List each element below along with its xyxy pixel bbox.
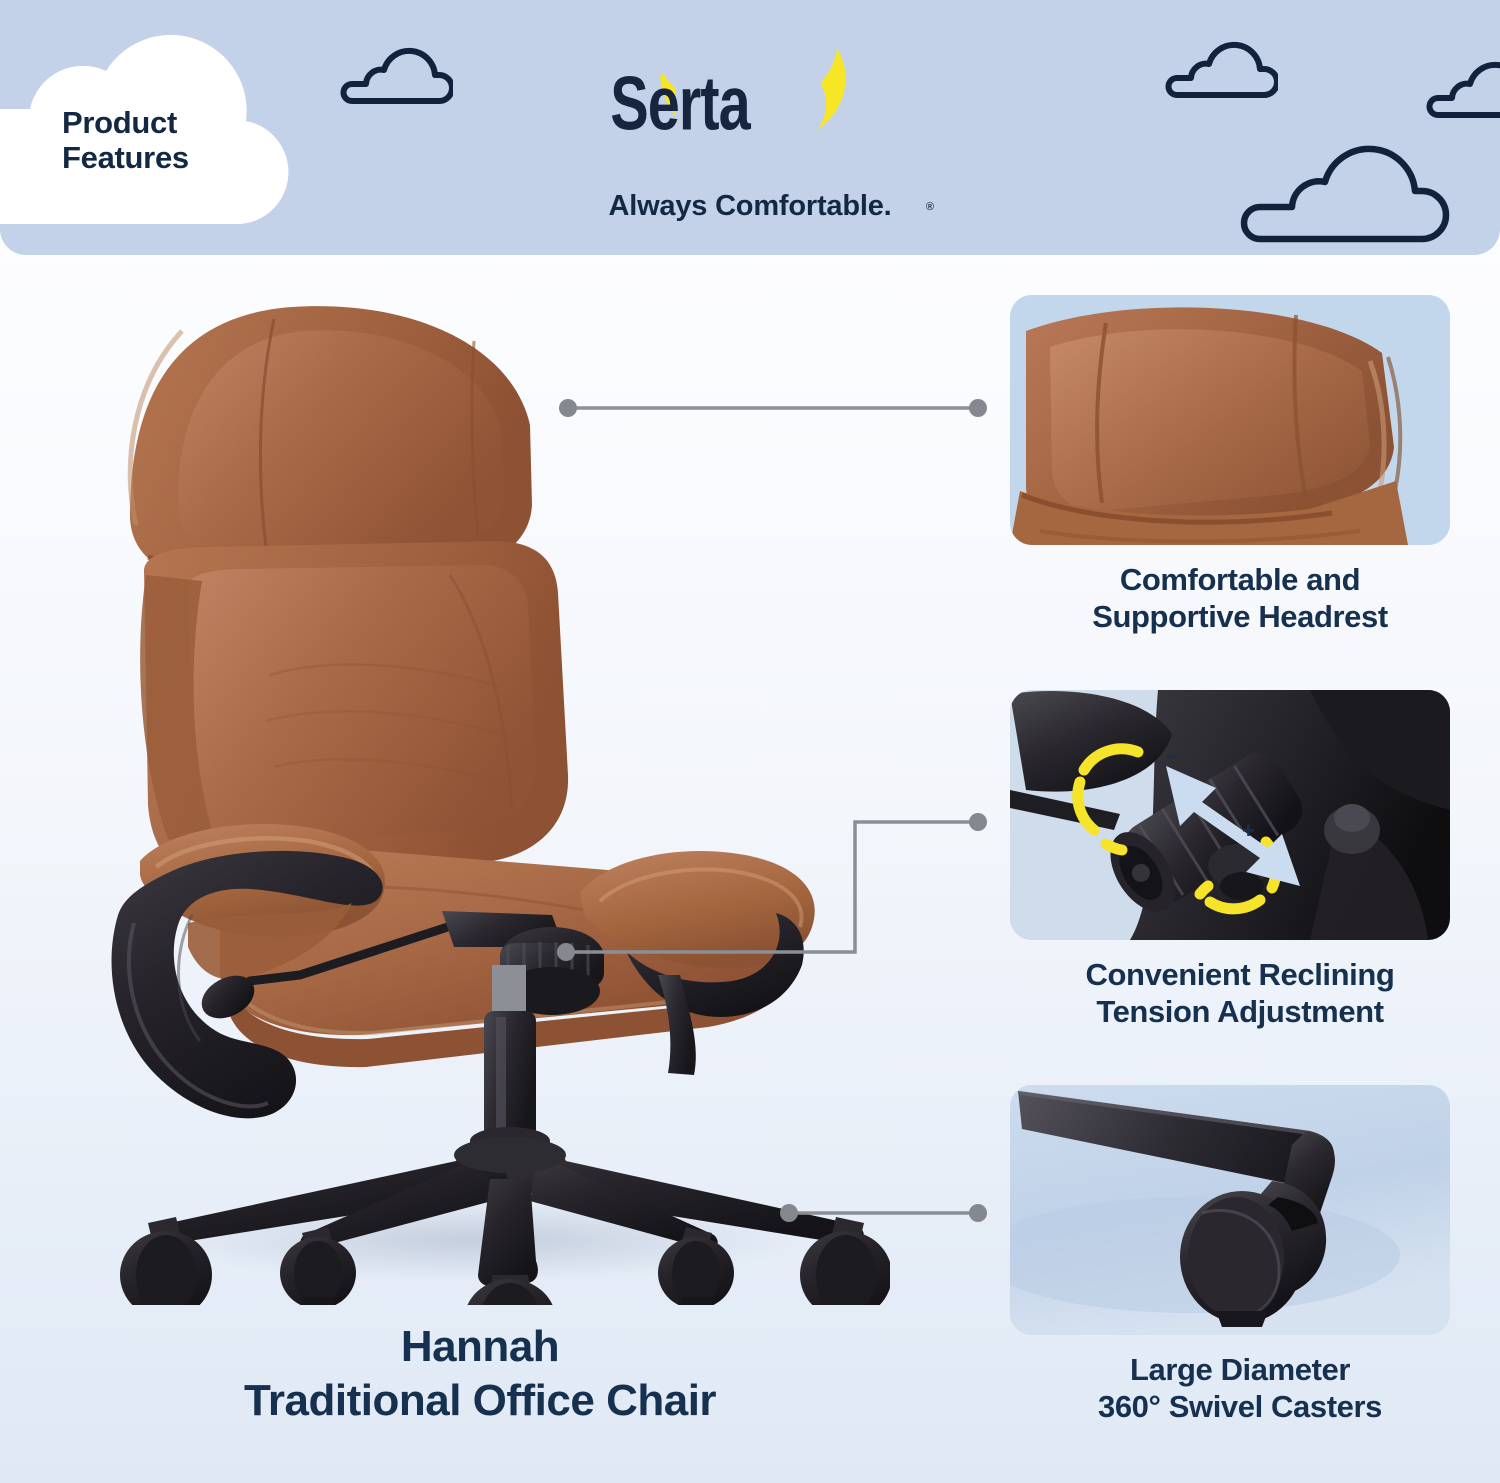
cloud-edge-right-icon	[1424, 56, 1500, 122]
feature-card-headrest: Comfortable and Supportive Headrest	[1010, 295, 1470, 635]
feature-caption-line-1: Large Diameter	[1010, 1351, 1470, 1388]
serta-logo: Serta ® Always Comfortable.	[560, 24, 940, 239]
tension-knob-closeup-image: − +	[1010, 690, 1450, 940]
badge-line-2: Features	[62, 140, 302, 175]
headrest-closeup-image	[1010, 295, 1450, 545]
feature-card-casters: Large Diameter 360° Swivel Casters	[1010, 1085, 1470, 1425]
header-banner: Product Features Serta ® Always Comforta…	[0, 0, 1500, 255]
product-title: Hannah Traditional Office Chair	[30, 1320, 930, 1427]
connector-dot	[969, 399, 987, 417]
feature-caption-line-1: Comfortable and	[1010, 561, 1470, 598]
connector-dot	[969, 1204, 987, 1222]
badge-line-1: Product	[62, 105, 302, 140]
caster-closeup-image	[1010, 1085, 1450, 1335]
minus-symbol-annotation: −	[1166, 744, 1179, 769]
feature-card-recline-tension: − + Convenient Reclining Tension Adjustm…	[1010, 690, 1470, 1030]
feature-caption-line-2: Supportive Headrest	[1010, 598, 1470, 635]
feature-caption-line-1: Convenient Reclining	[1010, 956, 1470, 993]
feature-caption-line-2: Tension Adjustment	[1010, 993, 1470, 1030]
cloud-large-right-icon	[1232, 140, 1454, 248]
serta-wordmark: Serta	[568, 6, 791, 201]
feature-caption-headrest: Comfortable and Supportive Headrest	[1010, 561, 1470, 635]
serta-tagline: Always Comfortable.	[560, 190, 940, 223]
product-title-line-1: Hannah	[30, 1320, 930, 1374]
connector-dot	[969, 813, 987, 831]
product-title-line-2: Traditional Office Chair	[30, 1374, 930, 1428]
main-product-image	[60, 275, 890, 1305]
feature-caption-casters: Large Diameter 360° Swivel Casters	[1010, 1351, 1470, 1425]
cloud-small-right-icon	[1163, 36, 1278, 102]
product-features-badge-text: Product Features	[62, 105, 302, 176]
plus-symbol-annotation: +	[1242, 818, 1255, 843]
cloud-small-left-icon	[338, 42, 453, 108]
feature-caption-recline-tension: Convenient Reclining Tension Adjustment	[1010, 956, 1470, 1030]
feature-caption-line-2: 360° Swivel Casters	[1010, 1388, 1470, 1425]
